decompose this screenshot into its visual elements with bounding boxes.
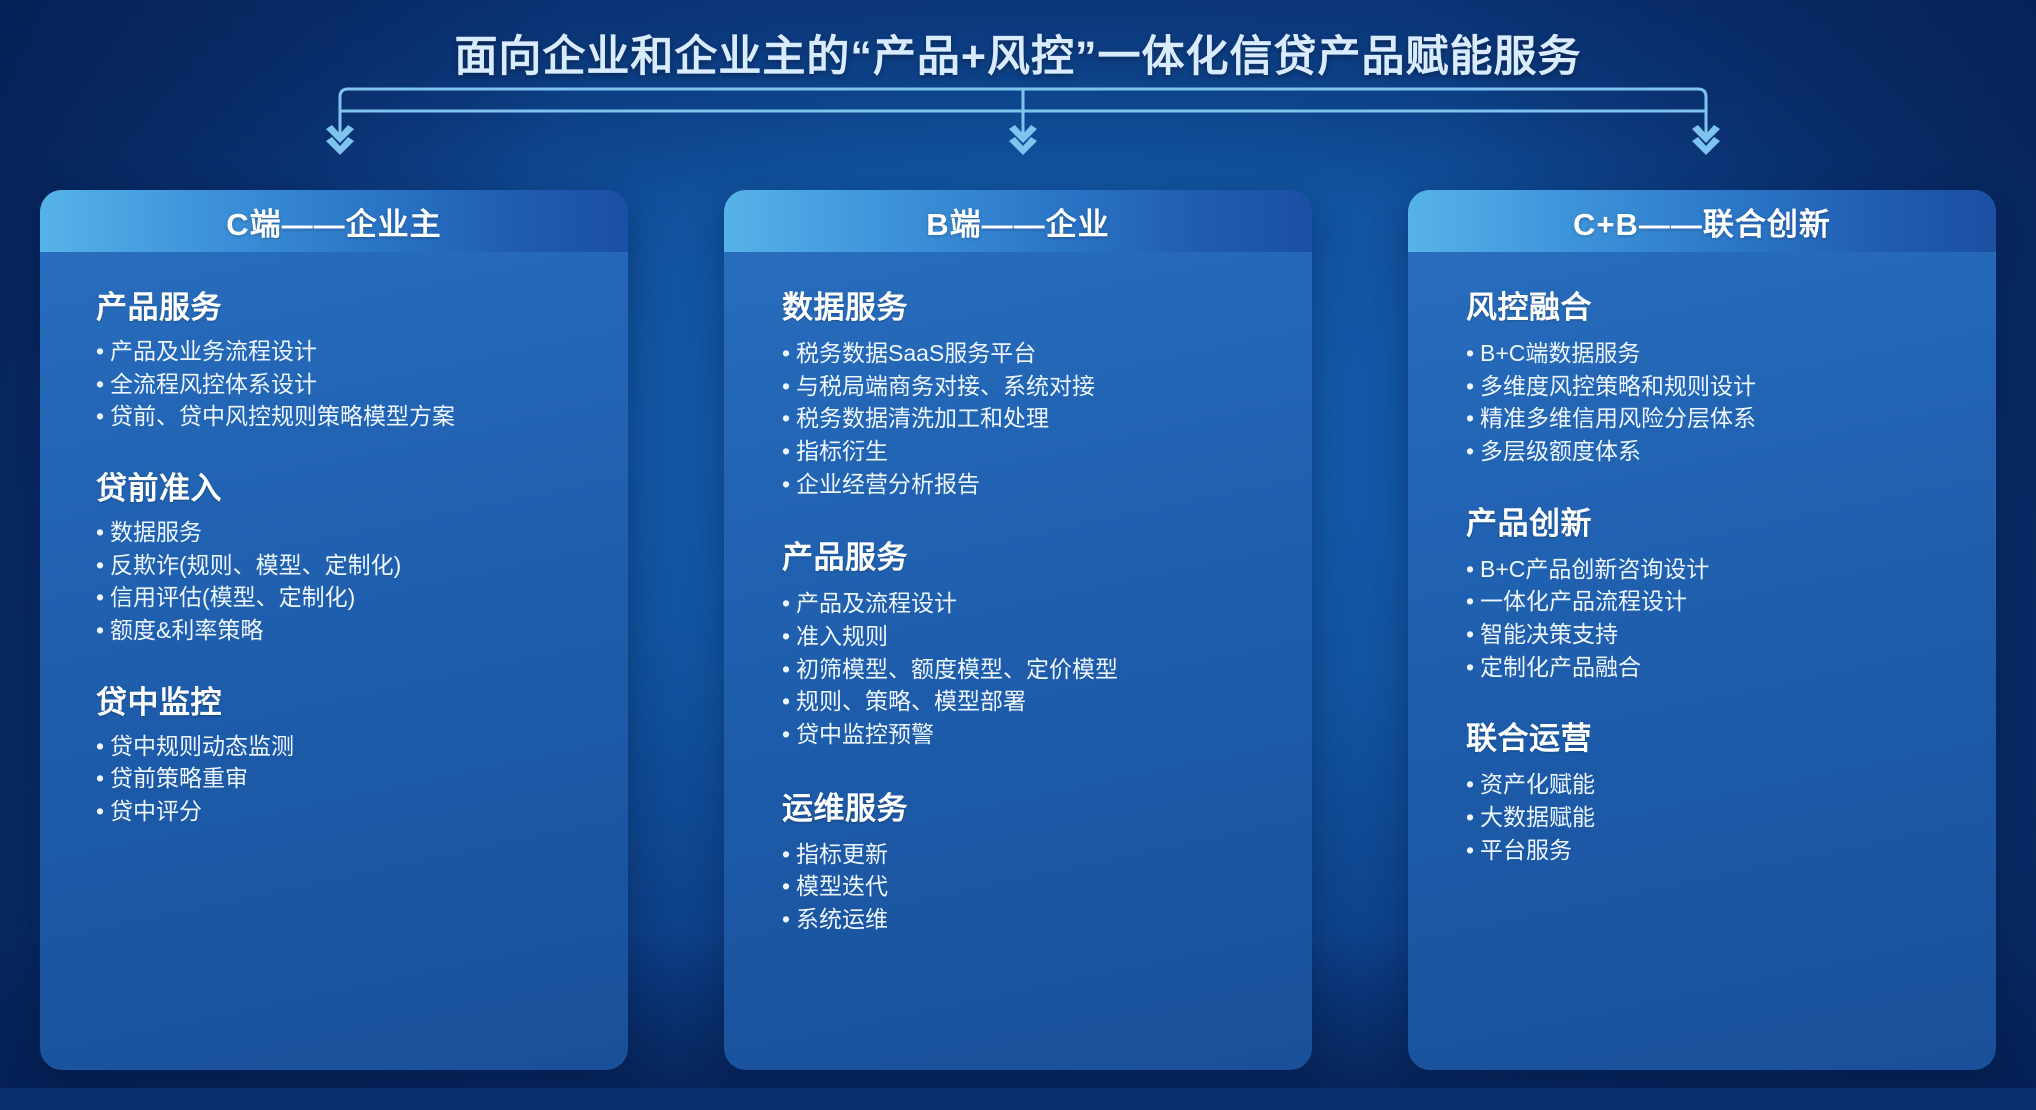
section-title: 联合运营 [1466, 713, 1996, 758]
list-item: B+C端数据服务 [1466, 337, 1996, 370]
list-item: 税务数据清洗加工和处理 [782, 402, 1312, 435]
column-card-cb-joint[interactable]: C+B——联合创新 风控融合 B+C端数据服务 多维度风控策略和规则设计 精准多… [1408, 190, 1996, 1070]
list-item: 全流程风控体系设计 [96, 368, 628, 401]
list-item: 指标衍生 [782, 435, 1312, 468]
section-block: 联合运营 资产化赋能 大数据赋能 平台服务 [1466, 713, 1996, 866]
list-item: 模型迭代 [782, 870, 1312, 903]
list-item: 产品及流程设计 [782, 587, 1312, 620]
section-title: 风控融合 [1466, 282, 1996, 327]
column-header-label: B端——企业 [926, 199, 1109, 244]
section-bullet-list: 税务数据SaaS服务平台 与税局端商务对接、系统对接 税务数据清洗加工和处理 指… [782, 337, 1312, 500]
page-title: 面向企业和企业主的“产品+风控”一体化信贷产品赋能服务 [454, 22, 1581, 84]
column-body-b-end: 数据服务 税务数据SaaS服务平台 与税局端商务对接、系统对接 税务数据清洗加工… [724, 252, 1312, 1070]
bottom-strip [0, 1088, 2036, 1110]
section-block: 产品服务 产品及业务流程设计 全流程风控体系设计 贷前、贷中风控规则策略模型方案 [96, 282, 628, 433]
list-item: 反欺诈(规则、模型、定制化) [96, 549, 628, 582]
list-item: 初筛模型、额度模型、定价模型 [782, 653, 1312, 686]
list-item: 多维度风控策略和规则设计 [1466, 370, 1996, 403]
list-item: 平台服务 [1466, 834, 1996, 867]
section-block: 数据服务 税务数据SaaS服务平台 与税局端商务对接、系统对接 税务数据清洗加工… [782, 282, 1312, 500]
list-item: 准入规则 [782, 620, 1312, 653]
list-item: 税务数据SaaS服务平台 [782, 337, 1312, 370]
section-title: 产品服务 [782, 532, 1312, 577]
column-header-b-end: B端——企业 [724, 190, 1312, 252]
section-title: 贷中监控 [96, 677, 628, 722]
list-item: 精准多维信用风险分层体系 [1466, 402, 1996, 435]
section-bullet-list: 指标更新 模型迭代 系统运维 [782, 838, 1312, 936]
section-bullet-list: B+C端数据服务 多维度风控策略和规则设计 精准多维信用风险分层体系 多层级额度… [1466, 337, 1996, 468]
columns-container: C端——企业主 产品服务 产品及业务流程设计 全流程风控体系设计 贷前、贷中风控… [40, 190, 1996, 1070]
section-block: 风控融合 B+C端数据服务 多维度风控策略和规则设计 精准多维信用风险分层体系 … [1466, 282, 1996, 468]
section-bullet-list: B+C产品创新咨询设计 一体化产品流程设计 智能决策支持 定制化产品融合 [1466, 553, 1996, 684]
column-card-b-end[interactable]: B端——企业 数据服务 税务数据SaaS服务平台 与税局端商务对接、系统对接 税… [724, 190, 1312, 1070]
section-block: 贷中监控 贷中规则动态监测 贷前策略重审 贷中评分 [96, 677, 628, 828]
section-bullet-list: 资产化赋能 大数据赋能 平台服务 [1466, 768, 1996, 866]
list-item: 数据服务 [96, 516, 628, 549]
section-bullet-list: 数据服务 反欺诈(规则、模型、定制化) 信用评估(模型、定制化) 额度&利率策略 [96, 516, 628, 647]
list-item: 产品及业务流程设计 [96, 335, 628, 368]
list-item: 大数据赋能 [1466, 801, 1996, 834]
chevron-down-icon [326, 125, 1720, 155]
list-item: 额度&利率策略 [96, 614, 628, 647]
section-block: 产品服务 产品及流程设计 准入规则 初筛模型、额度模型、定价模型 规则、策略、模… [782, 532, 1312, 750]
list-item: 信用评估(模型、定制化) [96, 581, 628, 614]
list-item: 规则、策略、模型部署 [782, 685, 1312, 718]
list-item: 企业经营分析报告 [782, 468, 1312, 501]
column-body-cb-joint: 风控融合 B+C端数据服务 多维度风控策略和规则设计 精准多维信用风险分层体系 … [1408, 252, 1996, 1070]
section-block: 贷前准入 数据服务 反欺诈(规则、模型、定制化) 信用评估(模型、定制化) 额度… [96, 463, 628, 647]
list-item: 贷前策略重审 [96, 762, 628, 795]
section-block: 运维服务 指标更新 模型迭代 系统运维 [782, 783, 1312, 936]
column-card-c-end[interactable]: C端——企业主 产品服务 产品及业务流程设计 全流程风控体系设计 贷前、贷中风控… [40, 190, 628, 1070]
column-header-label: C端——企业主 [226, 199, 441, 244]
section-block: 产品创新 B+C产品创新咨询设计 一体化产品流程设计 智能决策支持 定制化产品融… [1466, 498, 1996, 684]
list-item: 系统运维 [782, 903, 1312, 936]
list-item: 与税局端商务对接、系统对接 [782, 370, 1312, 403]
section-bullet-list: 产品及业务流程设计 全流程风控体系设计 贷前、贷中风控规则策略模型方案 [96, 335, 628, 433]
list-item: 智能决策支持 [1466, 618, 1996, 651]
column-header-c-end: C端——企业主 [40, 190, 628, 252]
section-bullet-list: 贷中规则动态监测 贷前策略重审 贷中评分 [96, 730, 628, 828]
column-body-c-end: 产品服务 产品及业务流程设计 全流程风控体系设计 贷前、贷中风控规则策略模型方案… [40, 252, 628, 1070]
section-title: 贷前准入 [96, 463, 628, 508]
section-title: 数据服务 [782, 282, 1312, 327]
list-item: 指标更新 [782, 838, 1312, 871]
list-item: 贷前、贷中风控规则策略模型方案 [96, 400, 628, 433]
list-item: 资产化赋能 [1466, 768, 1996, 801]
list-item: 多层级额度体系 [1466, 435, 1996, 468]
list-item: 贷中监控预警 [782, 718, 1312, 751]
section-bullet-list: 产品及流程设计 准入规则 初筛模型、额度模型、定价模型 规则、策略、模型部署 贷… [782, 587, 1312, 750]
section-title: 产品服务 [96, 282, 628, 327]
list-item: 贷中规则动态监测 [96, 730, 628, 763]
section-title: 产品创新 [1466, 498, 1996, 543]
list-item: 贷中评分 [96, 795, 628, 828]
column-header-label: C+B——联合创新 [1573, 199, 1831, 244]
list-item: 一体化产品流程设计 [1466, 585, 1996, 618]
column-header-cb-joint: C+B——联合创新 [1408, 190, 1996, 252]
page-title-container: 面向企业和企业主的“产品+风控”一体化信贷产品赋能服务 [0, 22, 2036, 84]
section-title: 运维服务 [782, 783, 1312, 828]
connector-bracket [0, 85, 2036, 165]
list-item: B+C产品创新咨询设计 [1466, 553, 1996, 586]
list-item: 定制化产品融合 [1466, 651, 1996, 684]
